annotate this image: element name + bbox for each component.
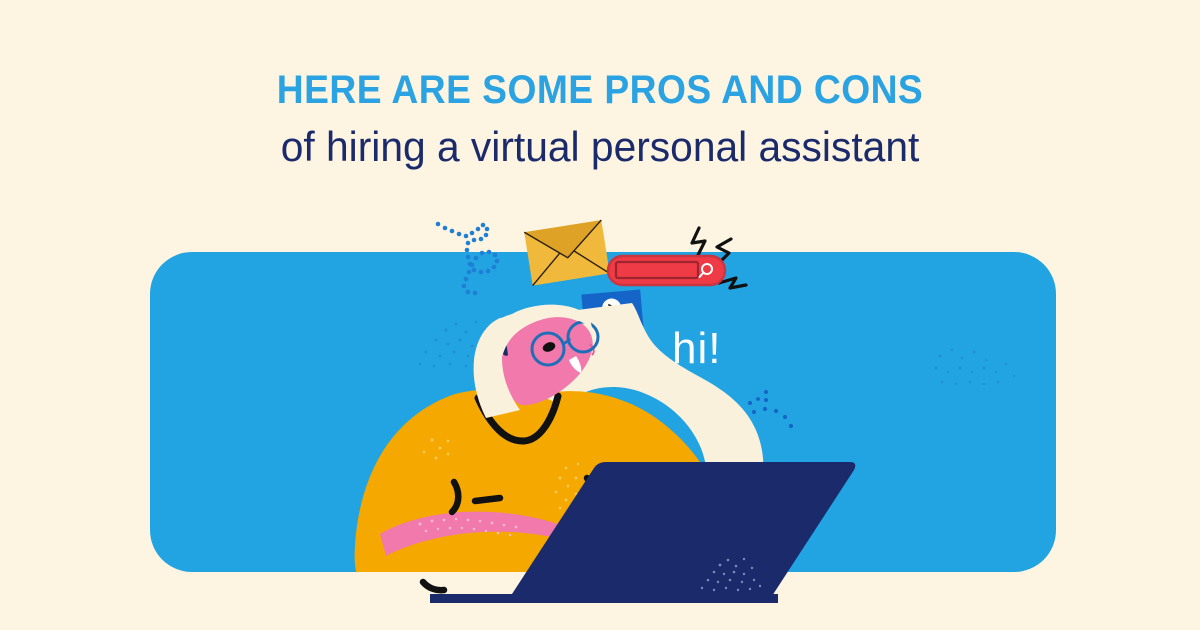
speech-text: hi! [672,327,721,371]
desk-surface [0,603,1200,630]
dotted-arc-icon [734,390,793,429]
texture-patch-left [419,321,520,368]
page-title-secondary: of hiring a virtual personal assistant [18,123,1182,171]
illustration-panel [150,252,1056,572]
panel-inner-art [150,252,1056,572]
poster-canvas: HERE ARE SOME PROS AND CONS of hiring a … [0,0,1200,630]
laptop-base [430,594,778,603]
page-title-primary: HERE ARE SOME PROS AND CONS [42,68,1158,113]
texture-patch-right [935,349,1016,386]
heading-block: HERE ARE SOME PROS AND CONS of hiring a … [0,0,1200,171]
